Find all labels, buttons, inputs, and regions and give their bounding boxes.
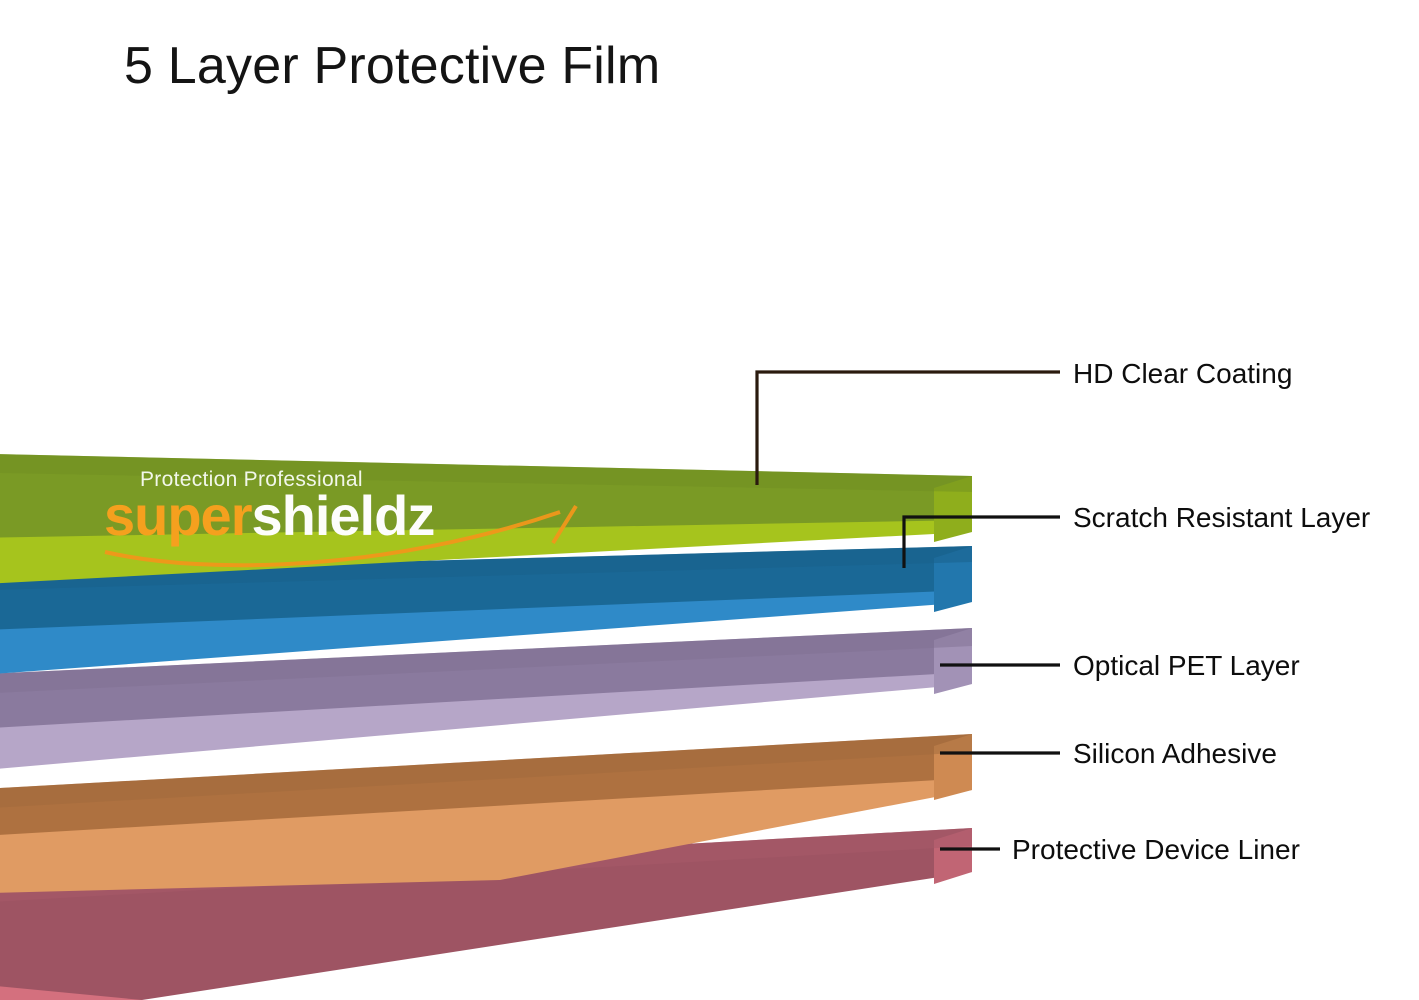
layer-label-protective-device-liner: Protective Device Liner bbox=[1012, 834, 1300, 866]
layer-label-scratch-resistant: Scratch Resistant Layer bbox=[1073, 502, 1370, 534]
diagram-canvas: 5 Layer Protective Film bbox=[0, 0, 1419, 1000]
layer-label-silicon-adhesive: Silicon Adhesive bbox=[1073, 738, 1277, 770]
leader-line-hd-clear-coating bbox=[757, 372, 1060, 485]
layer-label-hd-clear-coating: HD Clear Coating bbox=[1073, 358, 1292, 390]
layer-label-optical-pet: Optical PET Layer bbox=[1073, 650, 1300, 682]
